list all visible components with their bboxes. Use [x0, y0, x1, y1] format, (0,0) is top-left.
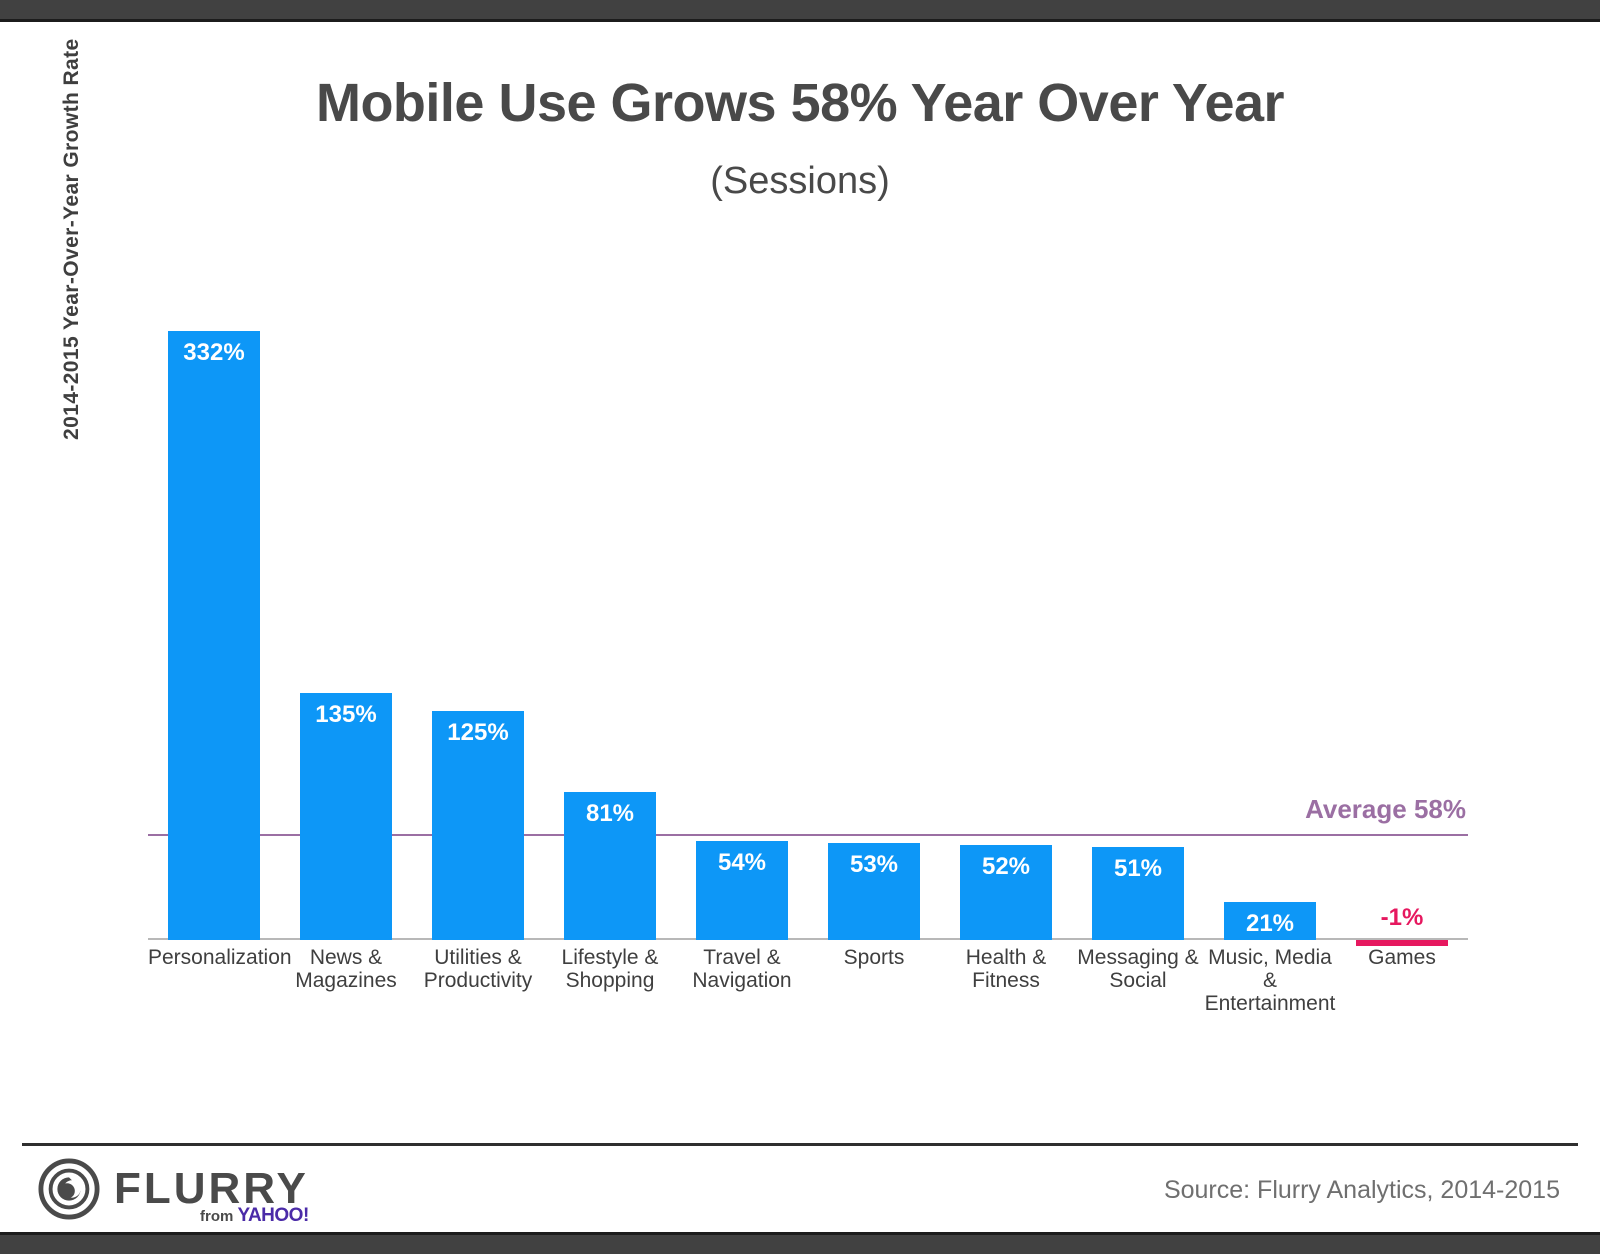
x-tick-label: Utilities &Productivity [412, 946, 544, 1015]
bar[interactable]: 125% [432, 711, 524, 940]
bar-slot: 81% [544, 280, 676, 940]
bar-slot: 332% [148, 280, 280, 940]
footer-divider [22, 1143, 1578, 1146]
bar[interactable]: 52% [960, 845, 1052, 940]
x-tick-label: Sports [808, 946, 940, 1015]
bar-value-label: -1% [1356, 904, 1448, 932]
bar-series: 332%135%125%81%54%53%52%51%21%-1% [148, 280, 1468, 940]
source-note: Source: Flurry Analytics, 2014-2015 [1164, 1176, 1560, 1205]
flurry-logo: FLURRY from YAHOO! [38, 1158, 309, 1220]
bar[interactable]: 81% [564, 792, 656, 941]
x-tick-label: Travel &Navigation [676, 946, 808, 1015]
flurry-wordmark: FLURRY from YAHOO! [114, 1167, 309, 1211]
bar[interactable]: 332% [168, 331, 260, 940]
bar-slot: 135% [280, 280, 412, 940]
top-frame-bar [0, 0, 1600, 22]
bar-value-label: 332% [168, 339, 260, 367]
x-tick-label: Games [1336, 946, 1468, 1015]
x-tick-label: Music, Media &Entertainment [1204, 946, 1336, 1015]
bar-slot: 51% [1072, 280, 1204, 940]
bar-value-label: 125% [432, 719, 524, 747]
bar-value-label: 52% [960, 853, 1052, 881]
chart-page: Mobile Use Grows 58% Year Over Year (Ses… [0, 0, 1600, 1254]
bar[interactable]: 21% [1224, 902, 1316, 941]
bar[interactable]: -1% [1356, 940, 1448, 946]
bar-slot: 53% [808, 280, 940, 940]
bar-slot: 21% [1204, 280, 1336, 940]
yahoo-label: YAHOO! [238, 1205, 309, 1226]
x-axis-tick-labels: PersonalizationNews &MagazinesUtilities … [148, 946, 1468, 1015]
bar-value-label: 54% [696, 849, 788, 877]
bar-slot: 52% [940, 280, 1072, 940]
x-tick-label: Lifestyle &Shopping [544, 946, 676, 1015]
bar-value-label: 21% [1224, 910, 1316, 938]
bar-value-label: 81% [564, 800, 656, 828]
bar[interactable]: 135% [300, 693, 392, 941]
x-tick-label: Personalization [148, 946, 280, 1015]
flurry-spiral-icon [38, 1158, 100, 1220]
bar-value-label: 51% [1092, 855, 1184, 883]
y-axis-label: 2014-2015 Year-Over-Year Growth Rate [60, 0, 84, 440]
bar-value-label: 135% [300, 701, 392, 729]
bar[interactable]: 51% [1092, 847, 1184, 941]
chart-subtitle: (Sessions) [0, 160, 1600, 203]
from-label: from [200, 1208, 233, 1225]
x-tick-label: Messaging &Social [1072, 946, 1204, 1015]
bar[interactable]: 54% [696, 841, 788, 940]
bar-slot: 125% [412, 280, 544, 940]
bar-slot: 54% [676, 280, 808, 940]
flurry-parent-brand: from YAHOO! [200, 1205, 309, 1227]
bar[interactable]: 53% [828, 843, 920, 940]
chart-title: Mobile Use Grows 58% Year Over Year [0, 72, 1600, 134]
bar-value-label: 53% [828, 851, 920, 879]
x-tick-label: News &Magazines [280, 946, 412, 1015]
plot-area: Average 58% 332%135%125%81%54%53%52%51%2… [148, 280, 1468, 940]
bottom-frame-bar [0, 1232, 1600, 1254]
x-tick-label: Health &Fitness [940, 946, 1072, 1015]
bar-slot: -1% [1336, 280, 1468, 940]
